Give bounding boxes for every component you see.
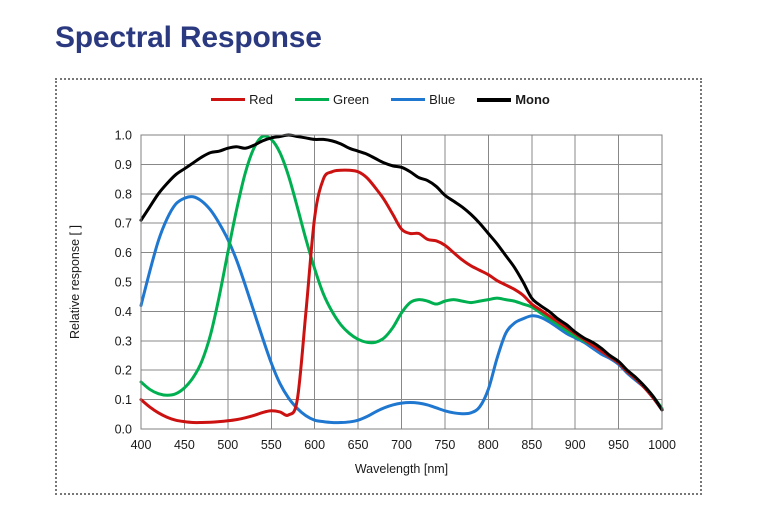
x-tick-label: 550 — [261, 438, 282, 452]
figure-frame: Red Green Blue Mono 40045050055060065070… — [55, 78, 702, 495]
x-tick-label: 900 — [565, 438, 586, 452]
y-tick-label: 0.6 — [115, 246, 132, 260]
slide-canvas: Spectral Response Red Green Blue Mono — [0, 0, 760, 518]
x-tick-label: 650 — [348, 438, 369, 452]
y-tick-label: 0.0 — [115, 423, 132, 437]
x-tick-label: 700 — [391, 438, 412, 452]
x-axis-title: Wavelength [nm] — [355, 462, 448, 476]
y-axis-title: Relative response [ ] — [68, 225, 82, 339]
y-tick-label: 0.5 — [115, 276, 132, 290]
page-title: Spectral Response — [55, 21, 322, 55]
x-tick-label: 400 — [131, 438, 152, 452]
grid-layer — [141, 135, 662, 429]
x-tick-label: 950 — [608, 438, 629, 452]
x-tick-labels: 4004505005506006507007508008509009501000 — [131, 438, 676, 452]
y-tick-label: 0.3 — [115, 334, 132, 348]
x-tick-label: 800 — [478, 438, 499, 452]
x-tick-label: 750 — [434, 438, 455, 452]
y-tick-label: 1.0 — [115, 129, 132, 143]
y-tick-label: 0.2 — [115, 364, 132, 378]
x-tick-label: 1000 — [648, 438, 676, 452]
x-tick-label: 450 — [174, 438, 195, 452]
x-tick-label: 850 — [521, 438, 542, 452]
y-tick-label: 0.7 — [115, 217, 132, 231]
spectral-response-chart: 4004505005506006507007508008509009501000… — [57, 80, 704, 497]
x-tick-label: 600 — [304, 438, 325, 452]
x-tick-label: 500 — [217, 438, 238, 452]
y-tick-label: 0.8 — [115, 187, 132, 201]
y-tick-labels: 0.00.10.20.30.40.50.60.70.80.91.0 — [115, 129, 132, 437]
y-tick-label: 0.1 — [115, 393, 132, 407]
y-tick-label: 0.9 — [115, 158, 132, 172]
plot-wrapper: 4004505005506006507007508008509009501000… — [57, 80, 704, 497]
y-tick-label: 0.4 — [115, 305, 132, 319]
